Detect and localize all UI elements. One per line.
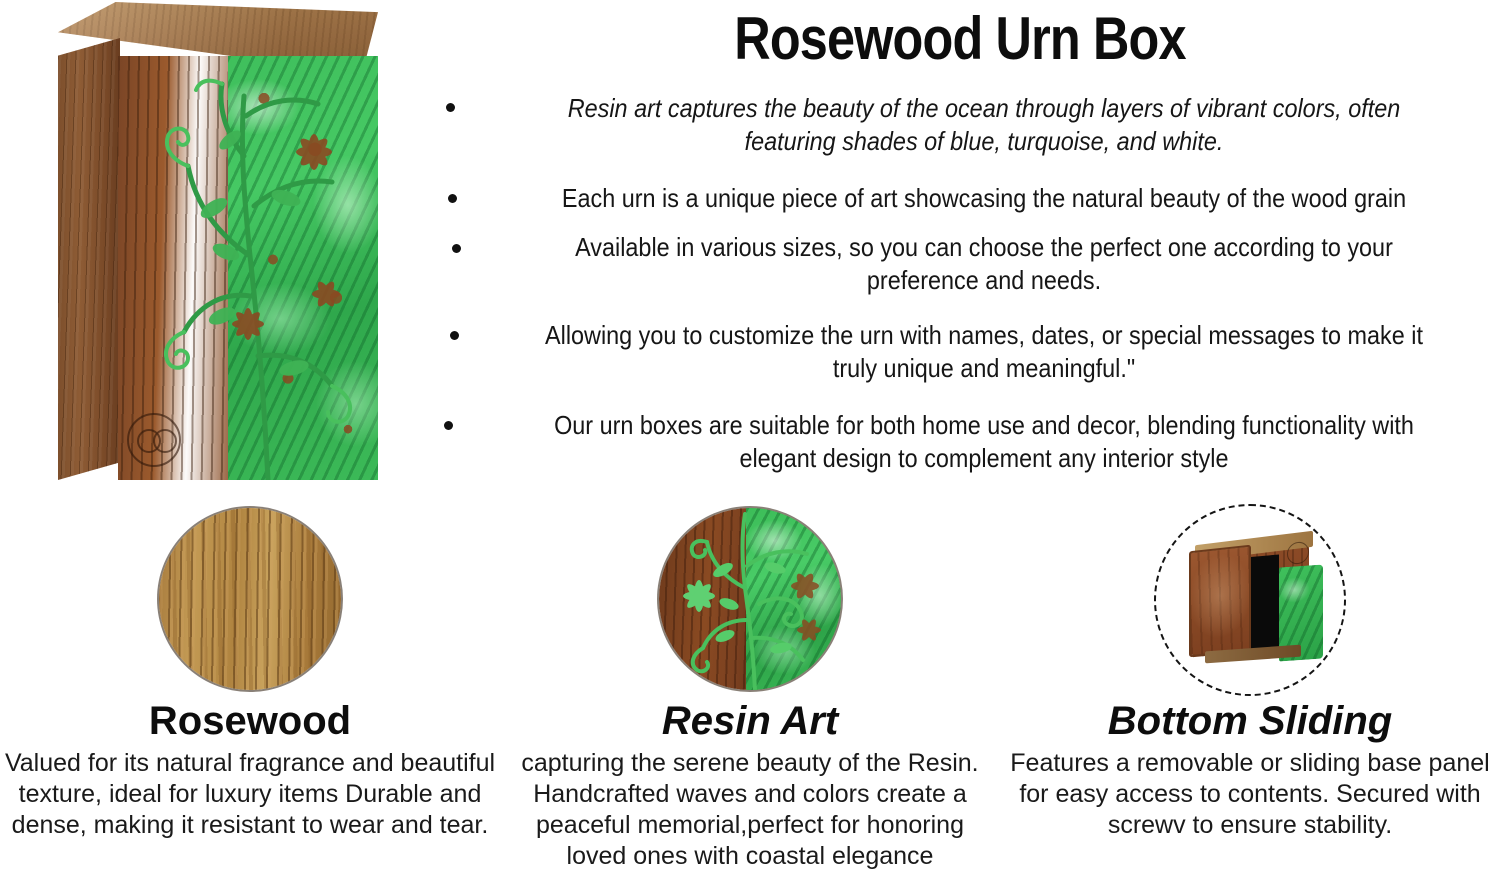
resin-art-swatch-icon bbox=[659, 508, 841, 690]
feature-bottom-sliding: Bottom Sliding Features a removable or s… bbox=[1000, 500, 1500, 887]
removable-base-panel bbox=[1189, 545, 1251, 658]
bullet-text: Available in various sizes, so you can c… bbox=[525, 231, 1443, 297]
feature-bullet-list: Resin art captures the beauty of the oce… bbox=[432, 92, 1494, 491]
feature-title: Bottom Sliding bbox=[1000, 698, 1500, 744]
sliding-base-illustration bbox=[1159, 508, 1341, 690]
rosewood-grain-swatch-icon bbox=[159, 508, 341, 690]
bullet-item: Each urn is a unique piece of art showca… bbox=[432, 182, 1494, 215]
resin-art-texture bbox=[659, 508, 841, 690]
bullet-text: Allowing you to customize the urn with n… bbox=[525, 319, 1443, 385]
bullet-dot-icon bbox=[450, 331, 459, 340]
bullet-dot-icon bbox=[444, 421, 453, 430]
bullet-dot-icon bbox=[448, 194, 457, 203]
feature-description: Features a removable or sliding base pan… bbox=[1000, 748, 1500, 841]
feature-description: Valued for its natural fragrance and bea… bbox=[0, 748, 500, 841]
tree-vine-motif-icon bbox=[659, 508, 841, 690]
infographic-page: Rosewood Urn Box Resin art captures the … bbox=[0, 0, 1500, 887]
feature-icon-wrap bbox=[0, 500, 500, 696]
bullet-text: Resin art captures the beauty of the oce… bbox=[525, 92, 1443, 158]
bullet-item: Allowing you to customize the urn with n… bbox=[432, 319, 1494, 385]
feature-columns: Rosewood Valued for its natural fragranc… bbox=[0, 500, 1500, 887]
bullet-dot-icon bbox=[446, 103, 455, 112]
bullet-item: Our urn boxes are suitable for both home… bbox=[432, 409, 1494, 475]
bottom-sliding-panel-photo-icon bbox=[1159, 508, 1341, 690]
engraved-brand-logo-icon bbox=[127, 413, 181, 467]
feature-icon-wrap bbox=[500, 500, 1000, 696]
feature-icon-wrap bbox=[1000, 500, 1500, 696]
feature-description: capturing the serene beauty of the Resin… bbox=[500, 748, 1000, 872]
bullet-text: Each urn is a unique piece of art showca… bbox=[562, 182, 1406, 215]
rosewood-urn-box-photo bbox=[55, 0, 385, 492]
bullet-item: Available in various sizes, so you can c… bbox=[432, 231, 1494, 297]
feature-rosewood: Rosewood Valued for its natural fragranc… bbox=[0, 500, 500, 887]
feature-title: Resin Art bbox=[500, 698, 1000, 744]
wood-grain-texture bbox=[159, 508, 341, 690]
feature-resin-art: Resin Art capturing the serene beauty of… bbox=[500, 500, 1000, 887]
bullet-dot-icon bbox=[452, 244, 461, 253]
bullet-text: Our urn boxes are suitable for both home… bbox=[525, 409, 1443, 475]
urn-left-side-face bbox=[58, 38, 120, 480]
product-photo bbox=[55, 0, 385, 492]
page-title: Rosewood Urn Box bbox=[515, 6, 1405, 72]
bullet-item: Resin art captures the beauty of the oce… bbox=[432, 92, 1494, 158]
feature-title: Rosewood bbox=[0, 698, 500, 744]
